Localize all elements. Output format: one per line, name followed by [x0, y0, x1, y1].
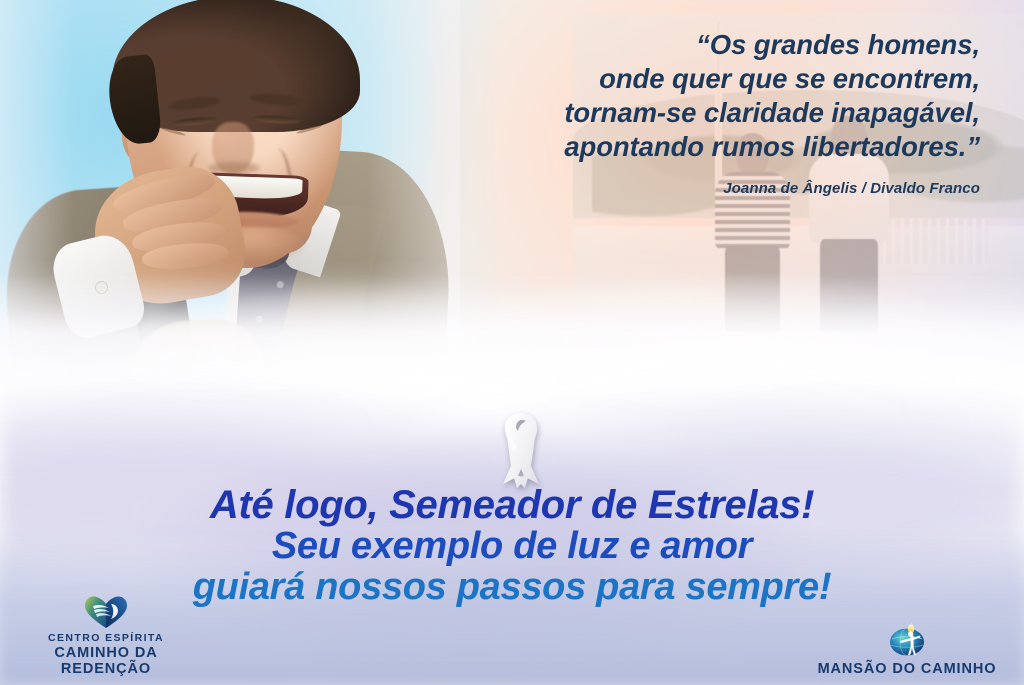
headline-line-1: Até logo, Semeador de Estrelas! — [0, 484, 1024, 526]
headline-block: Até logo, Semeador de Estrelas! Seu exem… — [0, 484, 1024, 607]
quote-line-3: tornam-se claridade inapagável, — [420, 96, 980, 130]
quote-line-4: apontando rumos libertadores.” — [420, 130, 980, 164]
logo-right-line-2: MANSÃO DO CAMINHO — [818, 661, 997, 677]
headline-line-2: Seu exemplo de luz e amor — [0, 526, 1024, 566]
logo-centro-espirita: CENTRO ESPÍRITA CAMINHO DA REDENÇÃO — [8, 595, 204, 677]
quote-line-1: “Os grandes homens, — [420, 28, 980, 62]
quote-block: “Os grandes homens, onde quer que se enc… — [420, 28, 980, 197]
logo-mansao-do-caminho: MANSÃO DO CAMINHO — [802, 619, 1012, 677]
quote-attribution: Joanna de Ângelis / Divaldo Franco — [420, 180, 980, 197]
globe-figure-flame-icon — [887, 619, 927, 657]
white-mourning-ribbon-icon — [483, 408, 559, 492]
hands-heart-icon — [84, 595, 128, 629]
logo-left-line-1: CENTRO ESPÍRITA — [8, 632, 204, 644]
memorial-poster: “Os grandes homens, onde quer que se enc… — [0, 0, 1024, 685]
quote-line-2: onde quer que se encontrem, — [420, 62, 980, 96]
logo-left-line-2: CAMINHO DA REDENÇÃO — [8, 645, 204, 677]
